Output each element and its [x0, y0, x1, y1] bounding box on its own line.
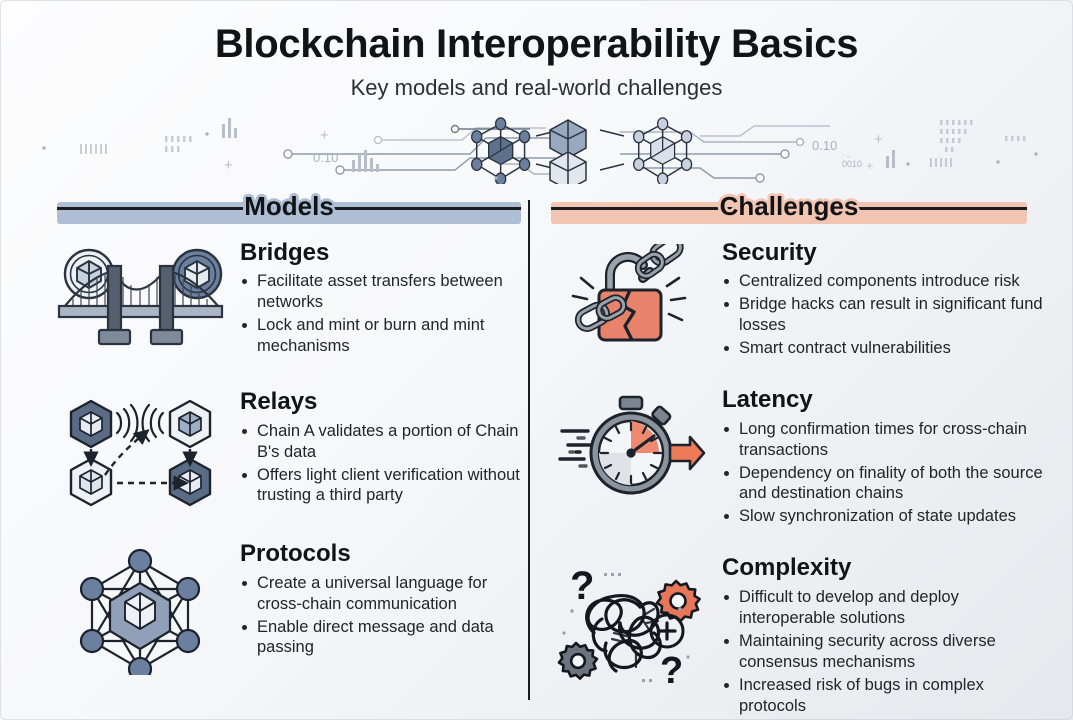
complexity-bullets: Difficult to develop and deploy interope… [722, 587, 1048, 717]
svg-text:⋅→: ⋅→ [842, 151, 853, 160]
blockchain-decoration-banner: 0.10 0.10 0010 ⋅→ + + + + [0, 112, 1073, 184]
latency-title: Latency [722, 387, 1048, 413]
latency-bullets: Long confirmation times for cross-chain … [722, 419, 1048, 528]
security-text: Security Centralized components introduc… [722, 240, 1048, 361]
protocols-title: Protocols [240, 541, 530, 567]
infographic-page: Blockchain Interoperability Basics Key m… [0, 0, 1073, 720]
section-header-models: Models [57, 196, 521, 222]
latency-text: Latency Long confirmation times for cros… [722, 387, 1048, 529]
model-block-bridges: Bridges Facilitate asset transfers betwe… [50, 240, 530, 359]
section-header-challenges: Challenges [551, 196, 1027, 222]
bridge-icon [50, 240, 230, 359]
challenge-block-security: Security Centralized components introduc… [548, 240, 1048, 361]
relays-title: Relays [240, 389, 530, 415]
list-item: Dependency on finality of both the sourc… [722, 463, 1048, 505]
svg-text:+: + [224, 157, 233, 174]
list-item: Enable direct message and data passing [240, 617, 530, 659]
complexity-title: Complexity [722, 555, 1048, 581]
svg-text:+: + [874, 131, 883, 148]
protocols-bullets: Create a universal language for cross-ch… [240, 573, 530, 659]
page-title: Blockchain Interoperability Basics [0, 22, 1073, 66]
challenge-block-complexity: ? ? Complexity Difficult to develop and … [548, 555, 1048, 718]
bridges-title: Bridges [240, 240, 530, 266]
tangled-knot-gears-icon: ? ? [548, 555, 712, 718]
svg-text:+: + [866, 158, 874, 173]
svg-text:+: + [320, 127, 329, 144]
banner-value-right: 0.10 [812, 138, 837, 153]
security-title: Security [722, 240, 1048, 266]
bridges-text: Bridges Facilitate asset transfers betwe… [240, 240, 530, 359]
header: Blockchain Interoperability Basics Key m… [0, 22, 1073, 100]
list-item: Chain A validates a portion of Chain B's… [240, 421, 530, 463]
relays-bullets: Chain A validates a portion of Chain B's… [240, 421, 530, 507]
relay-nodes-icon [50, 389, 230, 511]
page-subtitle: Key models and real-world challenges [0, 76, 1073, 100]
model-block-relays: Relays Chain A validates a portion of Ch… [50, 389, 530, 511]
list-item: Lock and mint or burn and mint mechanism… [240, 315, 530, 357]
banner-binary: 0010 [842, 159, 862, 169]
list-item: Slow synchronization of state updates [722, 506, 1048, 527]
protocols-text: Protocols Create a universal language fo… [240, 541, 530, 675]
list-item: Facilitate asset transfers between netwo… [240, 271, 530, 313]
challenges-column: Security Centralized components introduc… [548, 240, 1048, 720]
list-item: Bridge hacks can result in significant f… [722, 294, 1048, 336]
list-item: Difficult to develop and deploy interope… [722, 587, 1048, 629]
mesh-network-icon [50, 541, 230, 675]
list-item: Centralized components introduce risk [722, 271, 1048, 292]
models-heading: Models [228, 192, 350, 222]
complexity-text: Complexity Difficult to develop and depl… [722, 555, 1048, 718]
list-item: Long confirmation times for cross-chain … [722, 419, 1048, 461]
question-mark-left: ? [570, 564, 594, 608]
challenge-block-latency: Latency Long confirmation times for cros… [548, 387, 1048, 529]
models-column: Bridges Facilitate asset transfers betwe… [50, 240, 530, 705]
list-item: Offers light client verification without… [240, 465, 530, 507]
banner-graphic: 0.10 0.10 0010 ⋅→ + + + + [0, 112, 1073, 184]
bridges-bullets: Facilitate asset transfers between netwo… [240, 271, 530, 357]
list-item: Maintaining security across diverse cons… [722, 631, 1048, 673]
list-item: Increased risk of bugs in complex protoc… [722, 675, 1048, 717]
relays-text: Relays Chain A validates a portion of Ch… [240, 389, 530, 511]
stopwatch-icon [548, 387, 712, 529]
list-item: Create a universal language for cross-ch… [240, 573, 530, 615]
broken-padlock-icon [548, 240, 712, 361]
model-block-protocols: Protocols Create a universal language fo… [50, 541, 530, 675]
challenges-heading: Challenges [704, 192, 875, 222]
security-bullets: Centralized components introduce risk Br… [722, 271, 1048, 359]
question-mark-right: ? [660, 650, 683, 691]
list-item: Smart contract vulnerabilities [722, 338, 1048, 359]
banner-value-left: 0.10 [313, 150, 338, 165]
